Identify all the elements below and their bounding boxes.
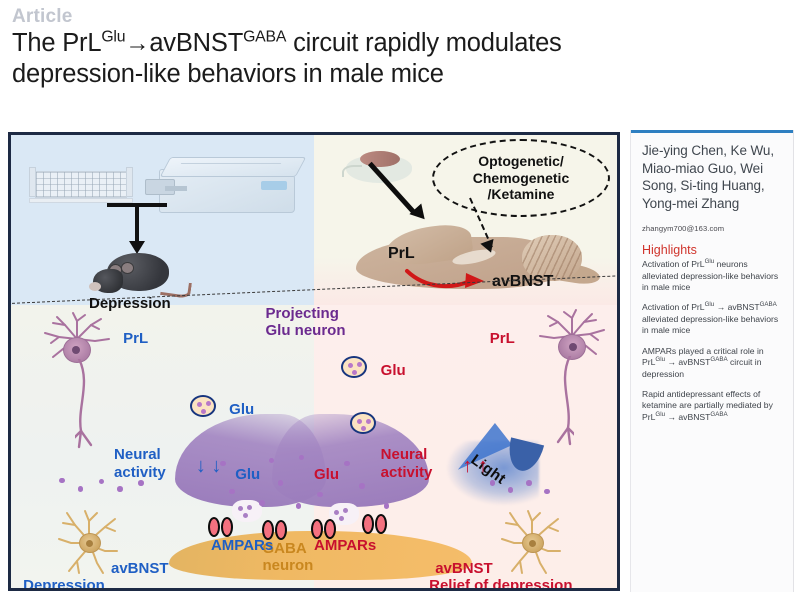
label-prl-brain: PrL (388, 245, 415, 263)
label-ampars-right: AMPARs (314, 537, 376, 554)
highlight-item: Activation of PrLGlu neurons alleviated … (642, 259, 783, 293)
highlight-text: → avBNST (665, 357, 710, 367)
ampar-receptor-right (311, 519, 339, 539)
label-avbnst-brain: avBNST (492, 273, 553, 291)
highlight-superscript: Glu (655, 411, 665, 418)
glu-dot (259, 500, 265, 506)
label-glu-vesicle-left: Glu (229, 401, 254, 418)
glu-dot (278, 480, 284, 486)
glu-dot (344, 461, 350, 467)
highlight-item: Rapid antidepressant effects of ketamine… (642, 389, 783, 423)
highlight-text: alleviated depression-like behaviors in … (642, 314, 778, 335)
highlight-superscript: Glu (655, 356, 665, 363)
title-segment-4: depression-like behaviors in male mice (12, 60, 444, 88)
bottom-content: Projecting Glu neuron GABA neuron (11, 305, 617, 588)
glu-dot (317, 492, 323, 498)
graphical-abstract-page: Article The PrLGlu→avBNSTGABA circuit ra… (0, 0, 800, 600)
glu-vesicle-left (190, 395, 216, 417)
title-segment-2: avBNST (149, 29, 243, 57)
glu-dot (526, 480, 532, 486)
ampar-receptor-right (362, 514, 390, 534)
title-arrow: → (125, 30, 149, 57)
glu-dot (59, 478, 65, 484)
label-projecting-glu-neuron: Projecting Glu neuron (266, 305, 346, 340)
synaptic-bouton-left (232, 500, 262, 522)
highlight-item: AMPARs played a critical role in PrLGlu … (642, 346, 783, 380)
depressed-mouse-icon (91, 251, 183, 301)
glu-dot (296, 503, 302, 509)
home-cage-apparatus-icon (151, 153, 301, 217)
neural-activity-left-line-2: activity (114, 464, 166, 481)
glu-dot (229, 489, 235, 495)
dashed-arrow-icon (470, 197, 530, 251)
projecting-line-1: Projecting (266, 305, 339, 322)
highlight-superscript: GABA (760, 302, 777, 309)
label-prl-right: PrL (490, 330, 515, 347)
highlights-heading: Highlights (642, 243, 783, 257)
prl-neuron-left (29, 311, 129, 461)
highlight-superscript: Glu (705, 258, 715, 265)
highlight-text: Activation of PrL (642, 302, 705, 312)
neural-activity-right-line-2: activity (381, 464, 433, 481)
bubble-line-optogenetic: Optogenetic/ (478, 153, 564, 169)
highlight-text: → avBNST (665, 412, 710, 422)
highlight-superscript: GABA (710, 356, 727, 363)
title-superscript-gaba: GABA (243, 29, 286, 46)
label-prl-left: PrL (123, 330, 148, 347)
glu-dot (359, 483, 365, 489)
glu-dot (138, 480, 144, 486)
projecting-line-2: Glu neuron (266, 322, 346, 339)
label-glu-vesicle-right: Glu (381, 362, 406, 379)
label-glu-free-left: Glu (235, 466, 260, 483)
downward-arrow-icon (107, 203, 167, 255)
grid-floor-apparatus-icon (29, 167, 133, 203)
activity-up-arrows-right: ↑ ↑ (462, 455, 488, 478)
author-list: Jie-ying Chen, Ke Wu, Miao-miao Guo, Wei… (642, 142, 783, 212)
highlight-superscript: GABA (710, 411, 727, 418)
page-title: The PrLGlu→avBNSTGABA circuit rapidly mo… (12, 28, 794, 91)
highlight-item: Activation of PrLGlu → avBNSTGABA allevi… (642, 302, 783, 336)
red-projection-arrow-icon (404, 265, 490, 291)
activity-down-arrows-left: ↓ ↓ (196, 455, 222, 478)
title-segment-1: The PrL (12, 29, 101, 57)
glu-dot (117, 486, 123, 492)
corresponding-email[interactable]: zhangym700@163.com (642, 224, 783, 233)
label-neural-activity-right: Neural activity (381, 446, 433, 481)
top-right-content: Optogenetic/ Chemogenetic /Ketamine PrL … (314, 135, 617, 305)
neural-activity-right-line-1: Neural (381, 446, 428, 463)
sidebar-top-rule (631, 130, 793, 133)
label-state-relief-right: Relief of depression (429, 577, 572, 591)
label-glu-free-right: Glu (314, 466, 339, 483)
bubble-line-chemogenetic: Chemogenetic (473, 170, 569, 186)
glu-dot (384, 503, 390, 509)
highlight-superscript: Glu (705, 302, 715, 309)
highlight-text: Activation of PrL (642, 259, 705, 269)
glu-dot (99, 479, 105, 485)
glu-vesicle-right-upper (341, 356, 367, 378)
highlight-text: → avBNST (714, 302, 759, 312)
ampar-receptor-left (208, 517, 236, 537)
label-ampars-left: AMPARs (211, 537, 273, 554)
title-segment-3: circuit rapidly modulates (286, 29, 561, 57)
label-state-depression-left: Depression (23, 577, 105, 591)
avbnst-neuron-right (490, 503, 576, 581)
title-superscript-glu: Glu (101, 29, 125, 46)
glu-dot (78, 486, 84, 492)
glu-dot (220, 461, 226, 467)
label-avbnst-right: avBNST (435, 560, 493, 577)
graphical-abstract-figure: Depression Optogenetic/ Chemogenetic /Ke… (8, 132, 620, 591)
neural-activity-left-line-1: Neural (114, 446, 161, 463)
gaba-line-2: neuron (262, 557, 313, 574)
article-type-label: Article (12, 6, 73, 28)
glu-dot (544, 489, 550, 495)
top-left-content: Depression (11, 135, 314, 305)
article-sidebar: Jie-ying Chen, Ke Wu, Miao-miao Guo, Wei… (630, 130, 794, 592)
label-neural-activity-left: Neural activity (114, 446, 166, 481)
label-avbnst-left: avBNST (111, 560, 169, 577)
glu-dot (490, 480, 496, 486)
